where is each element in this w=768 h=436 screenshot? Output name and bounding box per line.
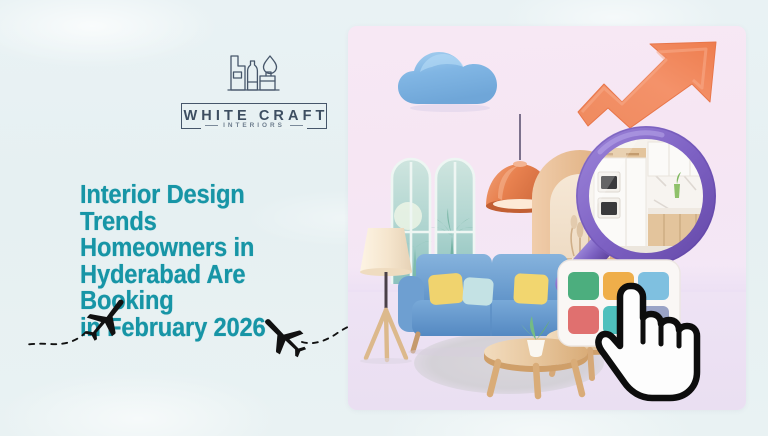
interior-furniture-line-art-icon xyxy=(225,52,283,98)
cloud-icon xyxy=(394,46,506,112)
brand-logo[interactable]: WHITE CRAFT INTERIORS xyxy=(178,52,330,129)
tagline-rule-right xyxy=(290,125,303,126)
airplane-right-icon xyxy=(258,312,362,358)
interior-design-3d-scene xyxy=(348,26,746,410)
airplane-left-icon xyxy=(28,296,136,348)
hand-cursor-icon xyxy=(600,280,710,406)
logo-tagline: INTERIORS xyxy=(223,122,285,129)
trend-arrow-up-icon xyxy=(574,40,722,132)
logo-tagline-row: INTERIORS xyxy=(201,122,307,129)
tagline-rule-left xyxy=(205,125,218,126)
